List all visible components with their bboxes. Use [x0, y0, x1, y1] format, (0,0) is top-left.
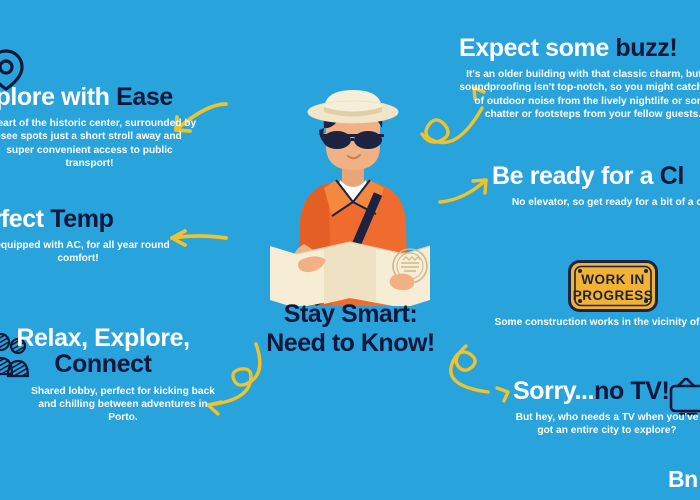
headline-dark-part: no TV!	[594, 377, 669, 405]
card-body: it equipped with AC, for all year round …	[0, 239, 178, 266]
card-work-in-progress: Some construction works in the vicinity …	[494, 258, 700, 329]
card-body: But hey, who needs a TV when you've got …	[513, 411, 700, 438]
card-relax-explore-connect: Relax, Explore, Connect Shared lobby, pe…	[0, 325, 218, 424]
headline-white-part: Sorry...	[513, 377, 594, 405]
card-headline: Relax, Explore, Connect	[0, 325, 218, 378]
card-body: Some construction works in the vicinity …	[494, 316, 700, 329]
card-perfect-temp: erfect Temp it equipped with AC, for all…	[0, 206, 178, 266]
headline-white-part: Expect some	[459, 34, 615, 62]
card-body: No elevator, so get ready for a bit of a…	[492, 196, 700, 209]
card-body: Shared lobby, perfect for kicking back a…	[23, 385, 223, 425]
headline-dark-part: buzz!	[615, 34, 677, 62]
card-expect-buzz: Expect some buzz! It's an older building…	[459, 35, 700, 121]
card-headline: xplore with Ease	[0, 84, 197, 110]
card-explore-with-ease: xplore with Ease e heart of the historic…	[0, 84, 197, 170]
headline-white-part: erfect	[0, 205, 50, 233]
headline-dark-part: Temp	[50, 205, 113, 233]
card-headline: Expect some buzz!	[459, 35, 700, 61]
card-headline: erfect Temp	[0, 206, 178, 232]
headline-dark-part: Cl	[660, 162, 684, 190]
card-headline: Be ready for a Cl	[492, 163, 700, 189]
center-title-block: Stay Smart: Need to Know!	[243, 300, 458, 357]
center-title-line-2: Need to Know!	[243, 329, 458, 358]
center-title-line-1: Stay Smart:	[243, 300, 458, 329]
card-body: It's an older building with that classic…	[459, 68, 700, 121]
card-body: e heart of the historic center, surround…	[0, 117, 197, 170]
card-be-ready-climb: Be ready for a Cl No elevator, so get re…	[492, 163, 700, 209]
headline-dark-part: Ease	[116, 83, 173, 111]
arrow-right-icon	[438, 166, 496, 217]
headline-white-part: xplore with	[0, 83, 116, 111]
card-headline: Sorry...no TV!	[513, 378, 700, 404]
headline-white-part: Be ready for a	[492, 162, 660, 190]
infographic-canvas: WORK IN PROGRESS Expect some buzz! It's …	[0, 0, 700, 500]
brand-logo-text: Bn	[668, 466, 698, 493]
headline-white-part: Relax, Explore,	[16, 324, 189, 352]
card-sorry-no-tv: Sorry...no TV! But hey, who needs a TV w…	[513, 378, 700, 438]
headline-dark-part: Connect	[54, 350, 151, 378]
